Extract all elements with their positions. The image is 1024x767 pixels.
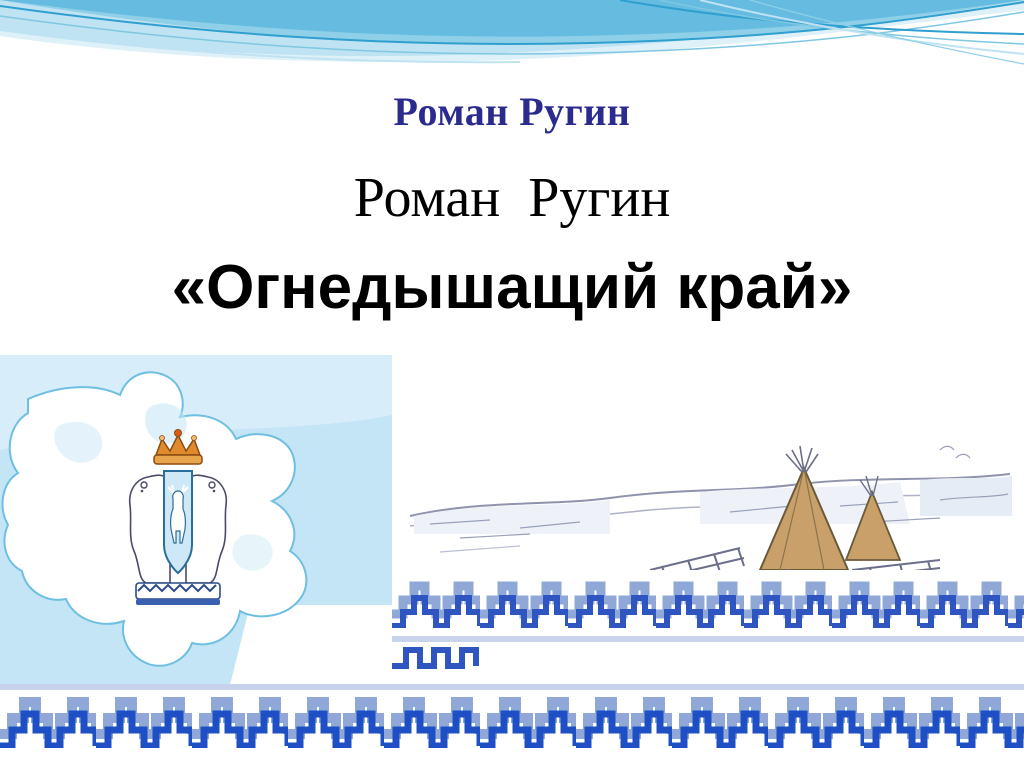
ribbon-base	[136, 583, 220, 605]
page-heading: Роман Ругин	[0, 88, 1024, 135]
title-work: «Огнедышащий край»	[0, 252, 1024, 323]
top-wave-decoration	[0, 0, 1024, 90]
yamal-map-image	[0, 355, 392, 685]
title-author: Роман Ругин	[0, 166, 1024, 230]
ornament-band-middle	[392, 570, 1024, 685]
ornament-band-bottom	[0, 684, 1024, 767]
